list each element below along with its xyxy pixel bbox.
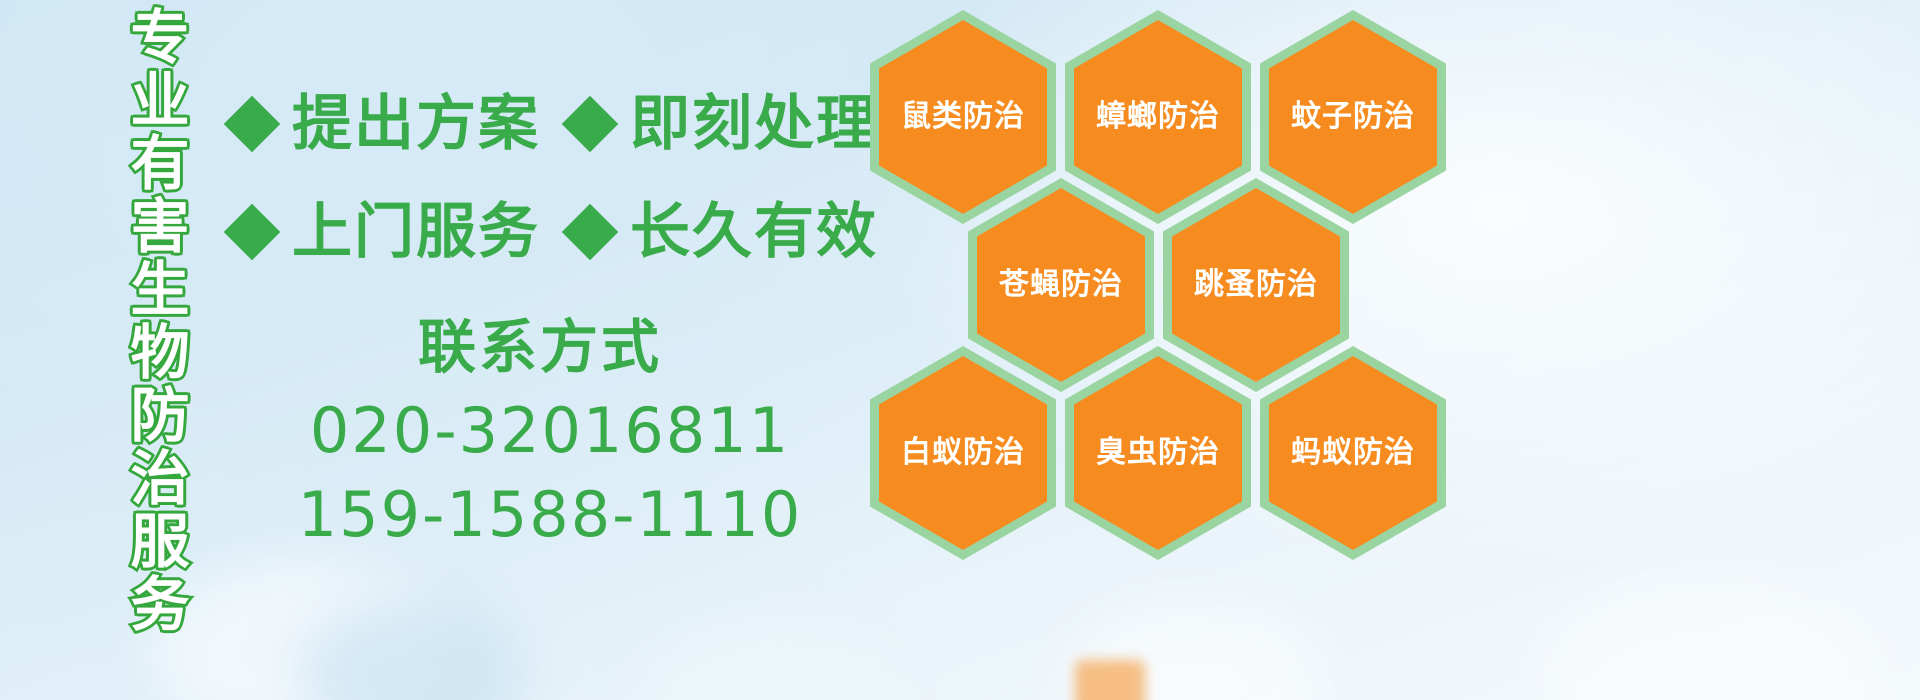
diamond-bullet-icon [562, 204, 619, 261]
service-honeycomb: 鼠类防治 蟑螂防治 蚊子防治 苍蝇防治 跳蚤防治 白蚁防治 [862, 0, 1462, 560]
hex-cell-termite-control[interactable]: 白蚁防治 [870, 346, 1056, 560]
feature-label: 提出方案 [292, 88, 540, 160]
vertical-headline-char: 有 [130, 132, 189, 195]
feature-label: 上门服务 [292, 196, 540, 268]
hex-label: 蚊子防治 [1291, 100, 1415, 134]
hex-cell-mosquito-control[interactable]: 蚊子防治 [1260, 10, 1446, 224]
vertical-headline-char: 生 [130, 258, 189, 321]
feature-item-long-lasting: 长久有效 [570, 196, 878, 268]
hex-cell-fly-control[interactable]: 苍蝇防治 [968, 178, 1154, 392]
phone-number-landline[interactable]: 020-32016811 [240, 390, 860, 472]
hex-cell-cockroach-control[interactable]: 蟑螂防治 [1065, 10, 1251, 224]
hex-inner: 白蚁防治 [879, 356, 1047, 550]
feature-label: 即刻处理 [630, 88, 878, 160]
contact-title: 联系方式 [220, 310, 860, 384]
vertical-headline-char: 害 [130, 195, 189, 258]
hex-inner: 臭虫防治 [1074, 356, 1242, 550]
pest-control-banner: 专 业 有 害 生 物 防 治 服 务 提出方案 即刻处理 上门服务 长久有效 [0, 0, 1920, 700]
diamond-bullet-icon [562, 96, 619, 153]
feature-item-propose-plan: 提出方案 [232, 88, 540, 160]
hex-inner: 苍蝇防治 [977, 188, 1145, 382]
background-blob [300, 600, 520, 700]
feature-item-immediate-handling: 即刻处理 [570, 88, 878, 160]
hex-cell-rodent-control[interactable]: 鼠类防治 [870, 10, 1056, 224]
feature-label: 长久有效 [630, 196, 878, 268]
hex-label: 苍蝇防治 [999, 268, 1123, 302]
hex-cell-bedbug-control[interactable]: 臭虫防治 [1065, 346, 1251, 560]
feature-item-onsite-service: 上门服务 [232, 196, 540, 268]
feature-row: 上门服务 长久有效 [232, 196, 878, 268]
vertical-headline-char: 服 [130, 510, 189, 573]
hex-cell-flea-control[interactable]: 跳蚤防治 [1163, 178, 1349, 392]
phone-number-mobile[interactable]: 159-1588-1110 [240, 474, 860, 556]
hex-label: 臭虫防治 [1096, 436, 1220, 470]
hex-label: 蟑螂防治 [1096, 100, 1220, 134]
diamond-bullet-icon [224, 204, 281, 261]
background-accent-shape [1075, 660, 1145, 700]
hex-inner: 蚂蚁防治 [1269, 356, 1437, 550]
hex-inner: 蚊子防治 [1269, 20, 1437, 214]
background-blob [640, 620, 900, 700]
hex-inner: 鼠类防治 [879, 20, 1047, 214]
hex-cell-ant-control[interactable]: 蚂蚁防治 [1260, 346, 1446, 560]
background-blob [150, 560, 450, 700]
hex-label: 鼠类防治 [901, 100, 1025, 134]
feature-row: 提出方案 即刻处理 [232, 88, 878, 160]
hex-inner: 跳蚤防治 [1172, 188, 1340, 382]
vertical-headline-char: 务 [130, 573, 189, 636]
vertical-headline: 专 业 有 害 生 物 防 治 服 务 [108, 6, 212, 576]
vertical-headline-char: 业 [130, 69, 189, 132]
vertical-headline-char: 物 [130, 321, 189, 384]
hex-label: 蚂蚁防治 [1291, 436, 1415, 470]
vertical-headline-char: 治 [130, 447, 189, 510]
hex-inner: 蟑螂防治 [1074, 20, 1242, 214]
contact-block: 联系方式 020-32016811 159-1588-1110 [240, 310, 860, 556]
background-blob [1540, 580, 1880, 700]
vertical-headline-char: 专 [130, 6, 189, 69]
vertical-headline-char: 防 [130, 384, 189, 447]
hex-label: 跳蚤防治 [1194, 268, 1318, 302]
diamond-bullet-icon [224, 96, 281, 153]
hex-label: 白蚁防治 [901, 436, 1025, 470]
